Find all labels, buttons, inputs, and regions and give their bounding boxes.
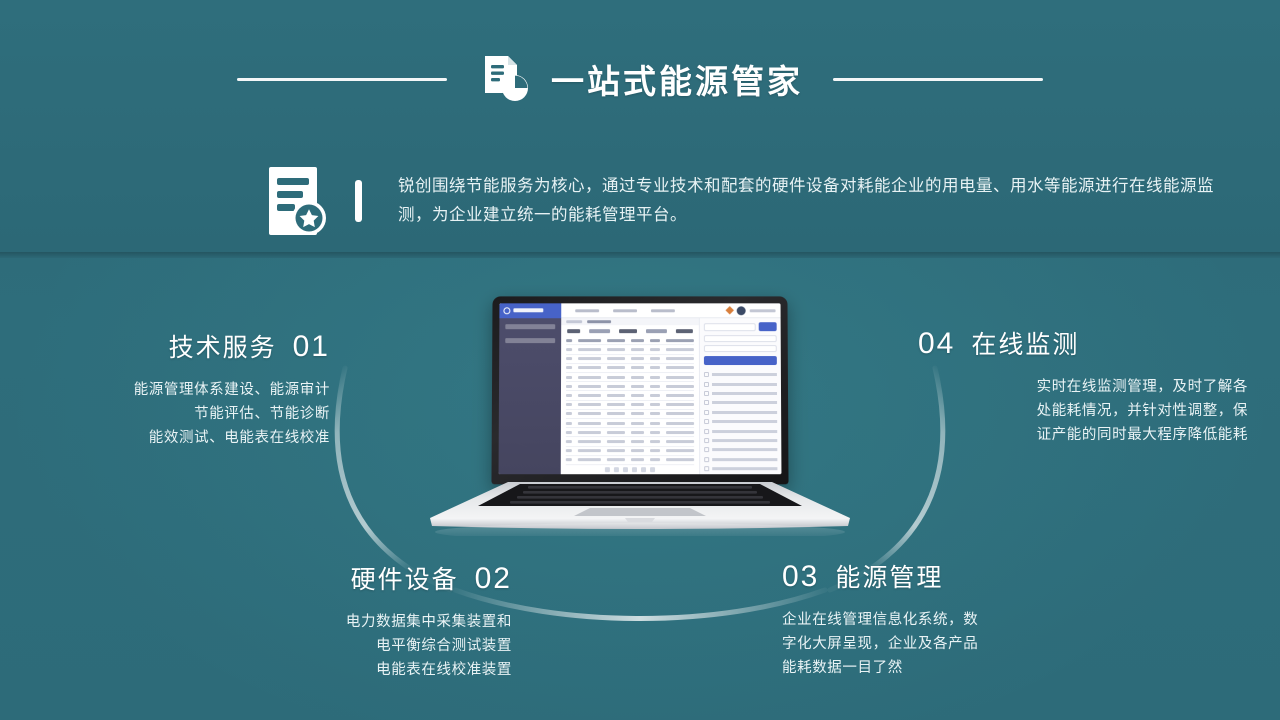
feature-block-03: 03 能源管理 企业在线管理信息化系统，数 字化大屏呈现，企业及各产品 能耗数据… (782, 558, 1112, 680)
feature-block-02: 硬件设备 02 电力数据集中采集装置和 电平衡综合测试装置 电能表在线校准装置 (200, 560, 512, 682)
feature-heading: 硬件设备 02 (200, 560, 512, 596)
intro-row: 锐创围绕节能服务为核心，通过专业技术和配套的硬件设备对耗能企业的用电量、用水等能… (265, 158, 1245, 244)
document-star-icon (265, 163, 327, 239)
feature-description: 企业在线管理信息化系统，数 字化大屏呈现，企业及各产品 能耗数据一目了然 (782, 608, 1112, 680)
slide-root: 一站式能源管家 锐创围绕节能服务为核心，通过专业技术和配套的硬件设备对耗能企业的… (0, 0, 1280, 720)
feature-block-01: 技术服务 01 能源管理体系建设、能源审计 节能评估、节能诊断 能效测试、电能表… (30, 328, 330, 450)
page-title: 一站式能源管家 (551, 55, 803, 103)
decorative-rule-left-icon (237, 78, 447, 81)
laptop-base (420, 296, 860, 336)
feature-heading: 03 能源管理 (782, 558, 1112, 594)
feature-heading: 04 在线监测 (918, 325, 1248, 361)
feature-number: 03 (782, 560, 819, 594)
feature-name: 硬件设备 (351, 560, 459, 596)
feature-number: 02 (475, 562, 512, 596)
decorative-rule-right-icon (833, 78, 1043, 81)
feature-name: 能源管理 (835, 558, 943, 594)
title-row: 一站式能源管家 (0, 50, 1280, 108)
feature-name: 技术服务 (169, 328, 277, 364)
feature-number: 01 (293, 330, 330, 364)
feature-description: 实时在线监测管理，及时了解各 处能耗情况，并针对性调整，保 证产能的同时最大程序… (918, 375, 1248, 447)
feature-heading: 技术服务 01 (30, 328, 330, 364)
feature-block-04: 04 在线监测 实时在线监测管理，及时了解各 处能耗情况，并针对性调整，保 证产… (918, 325, 1248, 447)
laptop-device (420, 296, 860, 526)
intro-paragraph: 锐创围绕节能服务为核心，通过专业技术和配套的硬件设备对耗能企业的用电量、用水等能… (398, 172, 1218, 230)
intro-divider (355, 180, 362, 222)
feature-description: 能源管理体系建设、能源审计 节能评估、节能诊断 能效测试、电能表在线校准 (30, 378, 330, 450)
feature-name: 在线监测 (971, 325, 1079, 361)
feature-description: 电力数据集中采集装置和 电平衡综合测试装置 电能表在线校准装置 (200, 610, 512, 682)
document-chart-icon (477, 51, 533, 107)
feature-number: 04 (918, 327, 955, 361)
